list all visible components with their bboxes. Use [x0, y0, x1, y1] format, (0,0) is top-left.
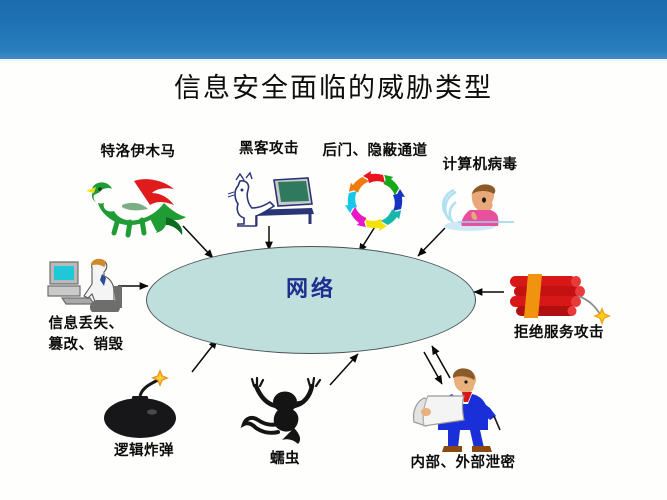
- threat-node-denial-of-service: 拒绝服务攻击: [504, 266, 614, 328]
- top-banner-hairline: [0, 59, 667, 61]
- green-dragon-icon: [82, 175, 192, 237]
- threat-node-computer-virus: 计算机病毒: [436, 178, 524, 234]
- threat-node-backdoor: 后门、隐蔽通道: [344, 170, 406, 232]
- threat-label-computer-virus: 计算机病毒: [431, 156, 529, 175]
- black-stick-figure-icon: [242, 378, 328, 446]
- threat-label-backdoor: 后门、隐蔽通道: [302, 142, 448, 161]
- threat-label-logic-bomb: 逻辑炸弹: [96, 442, 192, 461]
- threat-label-worm: 蠕虫: [245, 450, 325, 469]
- threat-label-denial-of-service: 拒绝服务攻击: [498, 324, 620, 343]
- sneezing-person-icon: [436, 178, 524, 234]
- threat-node-logic-bomb: 逻辑炸弹: [100, 372, 188, 442]
- threat-node-information-loss: 信息丢失、 篡改、销毁: [44, 256, 126, 314]
- threat-label-trojan-horse: 特洛伊木马: [78, 143, 198, 162]
- slide-canvas: 信息安全面临的威胁类型: [0, 0, 667, 500]
- top-banner: [0, 0, 667, 53]
- threat-label-internal-external-leak: 内部、外部泄密: [390, 454, 536, 473]
- network-label: 网络: [146, 275, 476, 303]
- circular-arrow-ring-icon: [344, 170, 406, 232]
- person-at-desktop-computer-icon: [44, 256, 126, 314]
- arrow-worm-to-network: [330, 354, 358, 385]
- arrow-logicbomb-to-network: [192, 340, 217, 372]
- threat-node-worm: 蠕虫: [242, 378, 328, 446]
- dynamite-bundle-icon: [504, 266, 614, 328]
- hacker-at-computer-icon: [222, 170, 318, 228]
- threat-node-internal-external-leak: 内部、外部泄密: [404, 368, 514, 454]
- threat-label-information-loss: 信息丢失、 篡改、销毁: [34, 314, 138, 356]
- threat-node-trojan-horse: 特洛伊木马: [82, 175, 192, 237]
- black-bomb-icon: [100, 372, 188, 442]
- businessman-with-newspaper-icon: [404, 368, 514, 454]
- threat-node-hacker-attack: 黑客攻击: [222, 170, 318, 228]
- page-title: 信息安全面临的威胁类型: [0, 72, 667, 106]
